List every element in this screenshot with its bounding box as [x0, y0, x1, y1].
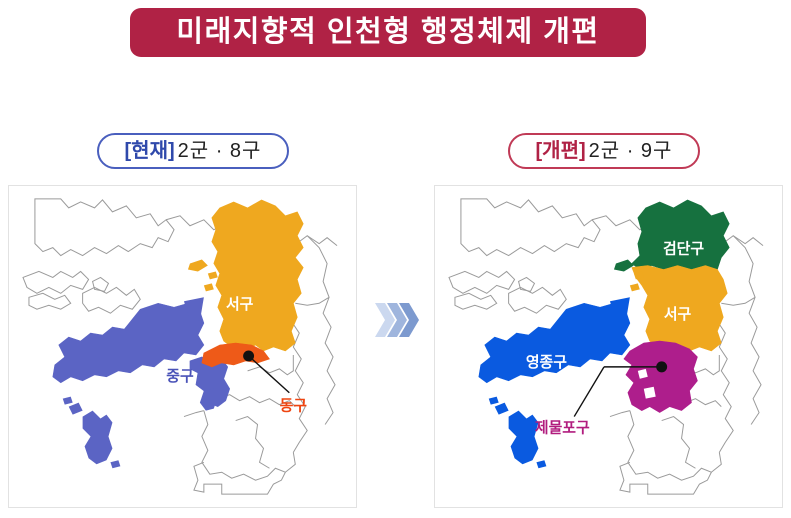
region-yeongjonggu-island-c: [536, 460, 546, 468]
region-junggu-mainland-b: [200, 389, 218, 411]
transition-arrow: [374, 298, 420, 342]
region-junggu-island-b: [69, 403, 83, 415]
region-yeongjonggu-island-d: [489, 397, 499, 405]
region-jemulpogu-inlet-b: [644, 387, 656, 399]
map-label-yeongjonggu: 영종구: [526, 353, 567, 371]
caption-pill-reform: [개편] 2군 · 9구: [508, 133, 700, 169]
region-seogu-reform-fragment-a: [630, 283, 640, 291]
region-seogu: [212, 200, 303, 351]
region-seogu-fragment-c: [208, 271, 218, 279]
region-jemulpogu: [624, 341, 698, 413]
map-label-seogu: 서구: [226, 296, 254, 313]
region-seogu-fragment-b: [204, 283, 214, 291]
caption-pill-current: [현재] 2군 · 8구: [97, 133, 289, 169]
region-junggu-island-c: [110, 460, 120, 468]
caption-rest-reform: 2군 · 9구: [589, 141, 673, 161]
caption-rest-current: 2군 · 8구: [178, 141, 262, 161]
page-title: 미래지향적 인천형 행정체제 개편: [176, 18, 599, 47]
region-geomdangu: [632, 200, 729, 270]
caption-tag-current: [현재]: [125, 141, 175, 161]
region-yeongjonggu-island-a: [509, 411, 539, 465]
caption-tag-reform: [개편]: [536, 141, 586, 161]
map-label-seogu-reform: 서구: [664, 306, 692, 323]
map-label-junggu: 중구: [166, 368, 194, 385]
region-junggu-island-a: [83, 411, 113, 465]
map-label-geomdangu: 검단구: [663, 240, 704, 258]
map-reform: 검단구 서구 영종구 제물포구: [434, 185, 783, 508]
region-seogu-fragment-a: [188, 260, 208, 272]
region-geomdangu-fragment: [614, 260, 634, 272]
map-reform-svg: 검단구 서구 영종구 제물포구: [435, 186, 782, 507]
map-current: 서구 중구 동구: [8, 185, 357, 508]
region-yeongjonggu-island-b: [495, 403, 509, 415]
transition-arrow-svg: [374, 298, 420, 342]
page-root: 미래지향적 인천형 행정체제 개편 [현재] 2군 · 8구 [개편] 2군 ·…: [0, 0, 791, 518]
map-current-svg: 서구 중구 동구: [9, 186, 356, 507]
page-title-banner: 미래지향적 인천형 행정체제 개편: [130, 8, 646, 57]
region-junggu-island-d: [63, 397, 73, 405]
map-label-jemulpogu: 제물포구: [535, 419, 590, 436]
map-label-donggu: 동구: [280, 398, 308, 415]
